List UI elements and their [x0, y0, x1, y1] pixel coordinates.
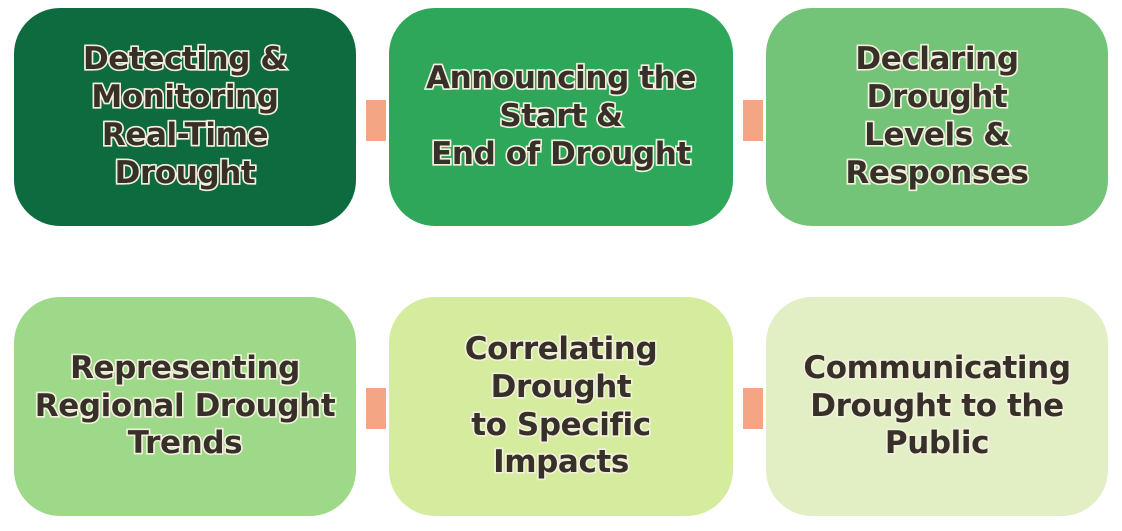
connector-row1-1-2	[366, 100, 386, 141]
card-label: Representing Regional Drought Trends	[35, 350, 335, 463]
card-correlating-drought-to-specific-impacts[interactable]: Correlating Drought to Specific Impacts	[389, 297, 733, 516]
card-communicating-drought-to-the-public[interactable]: Communicating Drought to the Public	[766, 297, 1108, 516]
card-label: Declaring Drought Levels & Responses	[780, 41, 1094, 192]
card-declaring-drought-levels-responses[interactable]: Declaring Drought Levels & Responses	[766, 8, 1108, 226]
card-label: Communicating Drought to the Public	[803, 350, 1070, 463]
connector-row2-2-3	[743, 388, 763, 429]
connector-row2-1-2	[366, 388, 386, 429]
card-label: Correlating Drought to Specific Impacts	[403, 331, 719, 482]
card-representing-regional-drought-trends[interactable]: Representing Regional Drought Trends	[14, 297, 356, 516]
process-flow-diagram: Detecting & Monitoring Real-Time Drought…	[0, 0, 1122, 531]
card-label: Announcing the Start & End of Drought	[426, 60, 696, 173]
card-label: Detecting & Monitoring Real-Time Drought	[28, 41, 342, 192]
card-detecting-monitoring-real-time-drought[interactable]: Detecting & Monitoring Real-Time Drought	[14, 8, 356, 226]
card-announcing-start-end-of-drought[interactable]: Announcing the Start & End of Drought	[389, 8, 733, 226]
connector-row1-2-3	[743, 100, 763, 141]
